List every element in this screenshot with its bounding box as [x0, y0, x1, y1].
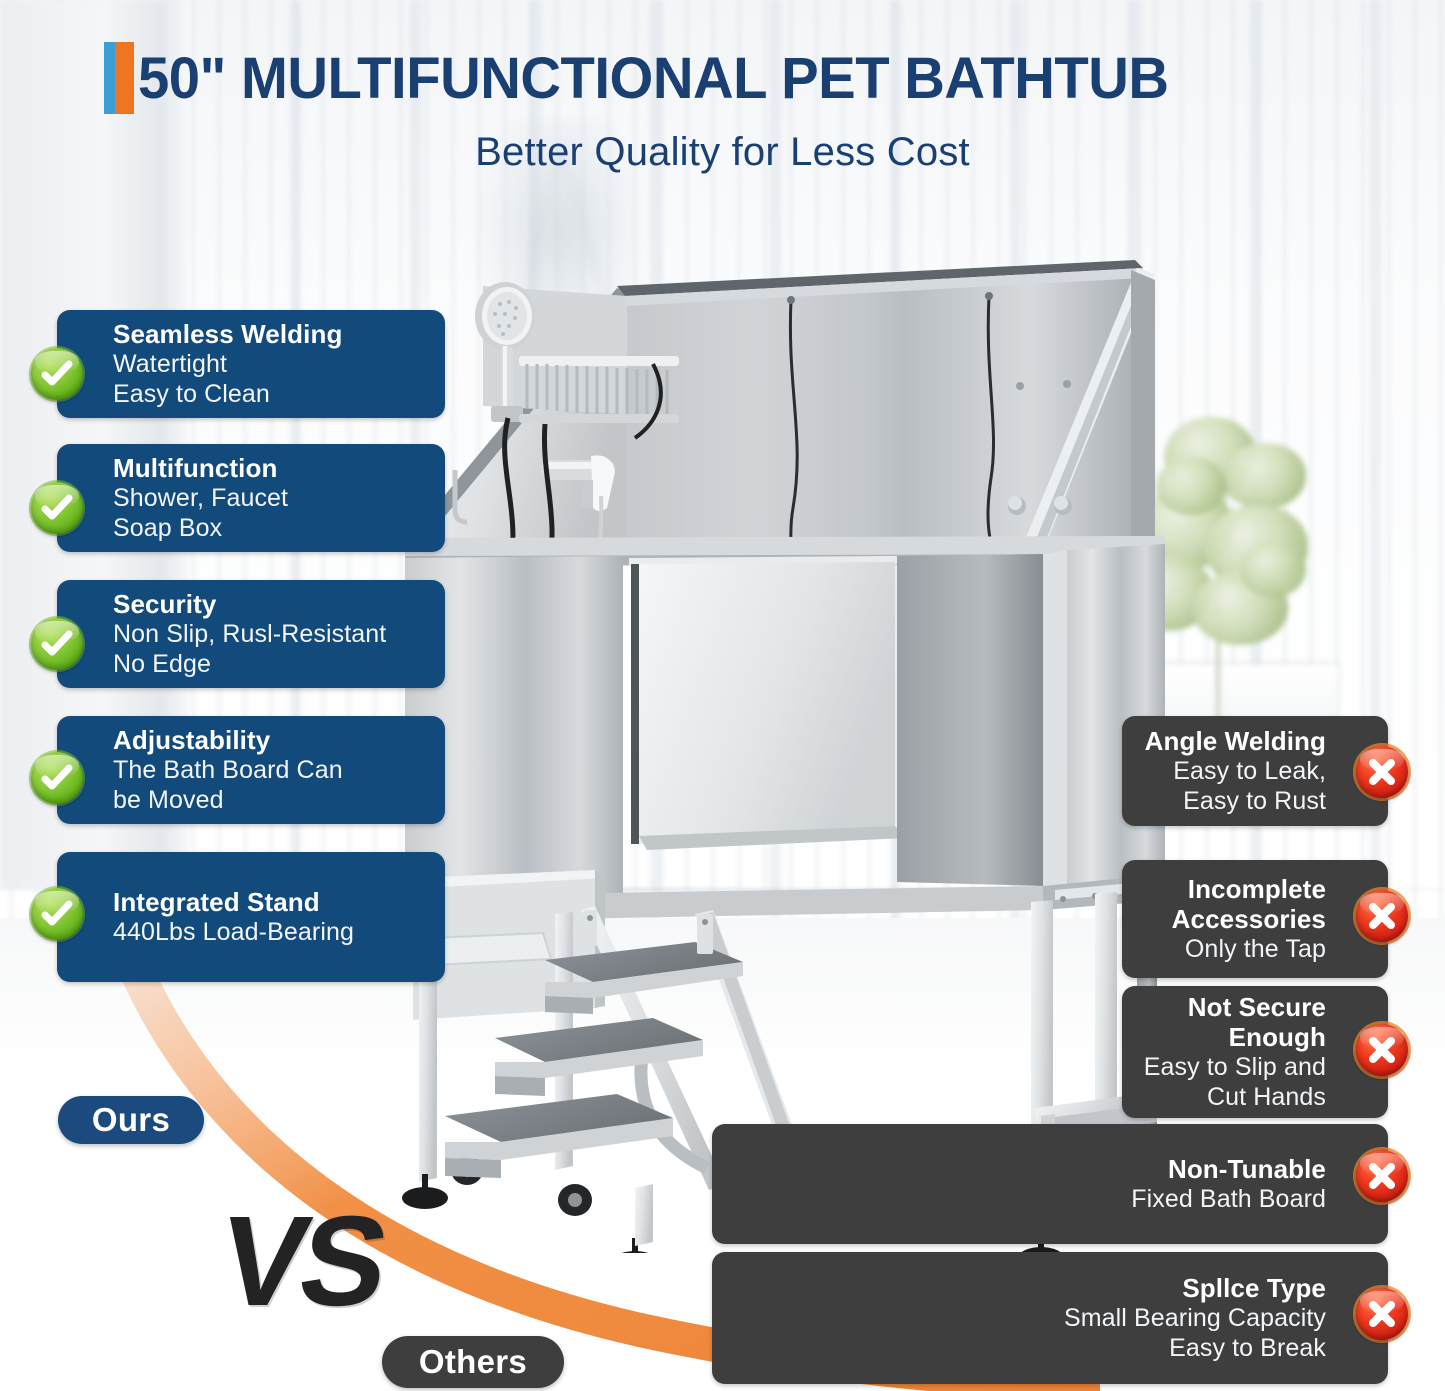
pro-description: Watertight Easy to Clean [113, 349, 270, 410]
pro-description: Non Slip, Rusl-Resistant No Edge [113, 619, 386, 680]
con-feature-panel[interactable]: Not Secure Enough Easy to Slip and Cut H… [1122, 986, 1388, 1118]
con-description: Only the Tap [1185, 934, 1326, 964]
title-accent-bars [104, 42, 134, 114]
versus-label: VS [210, 1188, 392, 1335]
con-description: Fixed Bath Board [1131, 1184, 1326, 1214]
pro-title: Security [113, 589, 216, 619]
check-icon [31, 752, 83, 804]
cross-icon [1356, 746, 1408, 798]
others-label: Others [382, 1336, 564, 1388]
pro-feature-panel[interactable]: Integrated Stand 440Lbs Load-Bearing [57, 852, 445, 982]
pro-title: Multifunction [113, 453, 277, 483]
con-description: Easy to Leak, Easy to Rust [1173, 756, 1326, 817]
ours-label: Ours [58, 1096, 204, 1144]
con-description: Small Bearing Capacity Easy to Break [1064, 1303, 1326, 1364]
con-title: Non-Tunable [1168, 1154, 1326, 1184]
con-title: Not Secure Enough [1188, 992, 1326, 1052]
con-title: Angle Welding [1145, 726, 1326, 756]
pro-title: Seamless Welding [113, 319, 342, 349]
check-icon [31, 888, 83, 940]
pro-feature-panel[interactable]: Security Non Slip, Rusl-Resistant No Edg… [57, 580, 445, 688]
pro-description: The Bath Board Can be Moved [113, 755, 343, 816]
product-image [395, 238, 1165, 1253]
pro-feature-panel[interactable]: Multifunction Shower, Faucet Soap Box [57, 444, 445, 552]
accent-bar-orange [115, 42, 134, 114]
cross-icon [1356, 1150, 1408, 1202]
con-title: Incomplete Accessories [1172, 874, 1326, 934]
con-description: Easy to Slip and Cut Hands [1144, 1052, 1326, 1113]
pro-feature-panel[interactable]: Adjustability The Bath Board Can be Move… [57, 716, 445, 824]
accent-bar-blue [104, 42, 115, 114]
cross-icon [1356, 1024, 1408, 1076]
cross-icon [1356, 1288, 1408, 1340]
con-feature-panel[interactable]: Non-Tunable Fixed Bath Board [712, 1124, 1388, 1244]
con-title: Spllce Type [1182, 1273, 1326, 1303]
title-row: 50" MULTIFUNCTIONAL PET BATHTUB [0, 0, 1445, 114]
pro-feature-panel[interactable]: Seamless Welding Watertight Easy to Clea… [57, 310, 445, 418]
con-feature-panel[interactable]: Angle Welding Easy to Leak, Easy to Rust [1122, 716, 1388, 826]
header: 50" MULTIFUNCTIONAL PET BATHTUB Better Q… [0, 0, 1445, 175]
infographic-root: 50" MULTIFUNCTIONAL PET BATHTUB Better Q… [0, 0, 1445, 1391]
con-feature-panel[interactable]: Incomplete Accessories Only the Tap [1122, 860, 1388, 978]
pro-description: 440Lbs Load-Bearing [113, 917, 354, 947]
page-subtitle: Better Quality for Less Cost [0, 130, 1445, 175]
check-icon [31, 618, 83, 670]
pro-description: Shower, Faucet Soap Box [113, 483, 288, 544]
pro-title: Adjustability [113, 725, 270, 755]
cross-icon [1356, 890, 1408, 942]
con-feature-panel[interactable]: Spllce Type Small Bearing Capacity Easy … [712, 1252, 1388, 1384]
pro-title: Integrated Stand [113, 887, 320, 917]
page-title: 50" MULTIFUNCTIONAL PET BATHTUB [138, 45, 1169, 112]
check-icon [31, 482, 83, 534]
check-icon [31, 348, 83, 400]
